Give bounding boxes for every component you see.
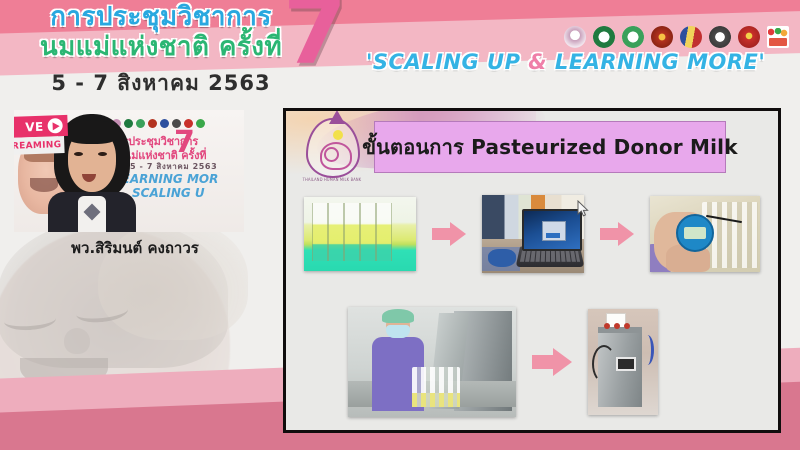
flow-arrow-2-icon — [600, 222, 634, 246]
thermometer-display — [684, 227, 706, 239]
computer-mouse — [488, 249, 516, 267]
control-knob-2 — [614, 323, 620, 329]
play-icon — [47, 118, 63, 134]
surgical-mask — [386, 325, 410, 338]
arrow-shaft — [600, 228, 619, 240]
machine-display — [616, 357, 636, 371]
surgical-cap — [382, 309, 414, 323]
child-nose — [64, 328, 90, 354]
inset-logo-4 — [148, 119, 157, 128]
water-hose — [641, 335, 654, 365]
tagline-ampersand: & — [528, 50, 547, 74]
process-flow-row-2 — [348, 307, 658, 417]
mahidol-university-seal-logo — [709, 26, 731, 48]
live-badge-bottom-row: TREAMING — [14, 136, 65, 155]
logo-caption: THAILAND HUMAN MILK BANK — [300, 178, 364, 183]
live-streaming-badge: VE TREAMING — [14, 115, 69, 157]
speaker-bangs — [64, 120, 120, 144]
speaker-eye-left — [74, 152, 83, 156]
arrow-head — [618, 222, 634, 246]
flow-arrow-3-icon — [532, 348, 572, 376]
department-of-health-logo — [622, 26, 644, 48]
milk-rack-2 — [328, 203, 344, 261]
inset-logo-5 — [160, 119, 169, 128]
milk-bottle-racks-photo — [304, 197, 416, 271]
streaming-label: TREAMING — [14, 140, 61, 152]
thai-health-promotion-foundation-logo — [767, 26, 789, 48]
speaker-eye-right — [98, 152, 107, 156]
slide-title: ขั้นตอนการ Pasteurized Donor Milk — [362, 131, 737, 163]
laptop-data-entry-photo — [482, 195, 584, 273]
child-mouth — [20, 358, 108, 398]
partner-logo-strip — [564, 26, 789, 48]
presentation-screenshot: การประชุมวิชาการ นมแม่แห่งชาติ ครั้งที่ … — [0, 0, 800, 450]
live-badge-top-row: VE — [14, 115, 68, 138]
inset-logo-8 — [196, 119, 205, 128]
edition-number: 7 — [283, 0, 347, 78]
event-title-line-1: การประชุมวิชาการ — [26, 4, 296, 30]
milk-rack-5 — [376, 203, 392, 261]
tagline-prefix: 'SCALING UP — [366, 50, 528, 74]
power-cable — [592, 345, 616, 383]
milk-drop-icon — [306, 118, 360, 178]
arrow-shaft — [532, 355, 554, 369]
event-title-line-2: นมแม่แห่งชาติ ครั้งที่ — [26, 34, 296, 60]
ministry-of-public-health-logo — [593, 26, 615, 48]
milk-rack-4 — [360, 203, 376, 261]
inset-logo-3 — [136, 119, 145, 128]
milk-rack-3 — [344, 203, 360, 261]
inset-poster-tagline-2: SCALING U — [132, 186, 205, 200]
process-flow-row-1 — [304, 195, 760, 273]
control-knob-3 — [624, 323, 630, 329]
control-knob-1 — [604, 323, 610, 329]
arrow-shaft — [432, 228, 451, 240]
arrow-head — [450, 222, 466, 246]
baby-icon — [320, 142, 352, 170]
laptop-dialog-window — [542, 221, 566, 241]
milk-rack-1 — [312, 203, 328, 261]
slide-panel[interactable]: THAILAND HUMAN MILK BANK ขั้นตอนการ Past… — [283, 108, 781, 433]
digital-thermometer-icon — [676, 214, 714, 252]
royal-thai-government-emblem-logo — [680, 26, 702, 48]
slide-title-banner: ขั้นตอนการ Pasteurized Donor Milk — [374, 121, 726, 173]
tagline-suffix: LEARNING MORE' — [547, 50, 765, 74]
event-title-block: การประชุมวิชาการ นมแม่แห่งชาติ ครั้งที่ … — [26, 4, 296, 100]
royal-college-emblem-logo — [651, 26, 673, 48]
live-label: VE — [25, 119, 44, 134]
laptop-screen — [522, 209, 582, 251]
speaker-name-caption: พว.สิริมนต์ คงถาวร — [10, 236, 260, 260]
speaker-video-inset[interactable]: การประชุมวิชาการ นมแม่แห่งชาติ ครั้งที่ … — [14, 110, 244, 232]
milk-bottle-basket — [412, 367, 460, 407]
inset-poster-number: 7 — [174, 128, 195, 158]
arrow-head — [553, 348, 572, 376]
national-health-security-office-logo — [738, 26, 760, 48]
temperature-probe-photo — [650, 196, 760, 272]
flow-arrow-1-icon — [432, 222, 466, 246]
event-tagline: 'SCALING UP & LEARNING MORE' — [366, 50, 765, 74]
milk-drop-dot — [333, 130, 343, 140]
pasteurizer-machine-photo — [588, 309, 658, 415]
human-milk-bank-logo: THAILAND HUMAN MILK BANK — [300, 116, 364, 182]
event-date: 5 - 7 สิงหาคม 2563 — [26, 67, 296, 100]
thai-breastfeeding-foundation-logo — [564, 26, 586, 48]
nurse-loading-pasteurizer-photo — [348, 307, 516, 417]
